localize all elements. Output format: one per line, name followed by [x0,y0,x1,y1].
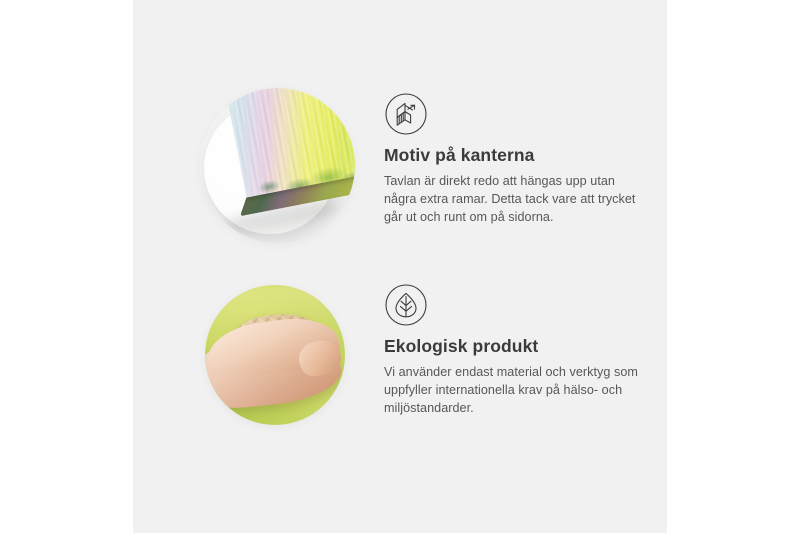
content-panel: Motiv på kanterna Tavlan är direkt redo … [133,0,667,533]
feature-title: Ekologisk produkt [384,336,656,357]
feature-block-motiv-pa-kanterna: Motiv på kanterna Tavlan är direkt redo … [133,78,667,253]
product-feature-panel: Motiv på kanterna Tavlan är direkt redo … [0,0,800,533]
canvas-corner-photo [200,88,355,243]
wood-chips-in-hands-photo [205,285,345,425]
leaf-icon [384,283,428,327]
feature-block-ekologisk-produkt: Ekologisk produkt Vi använder endast mat… [133,275,667,435]
feature-text-column: Ekologisk produkt Vi använder endast mat… [384,283,656,418]
feature-text-column: Motiv på kanterna Tavlan är direkt redo … [384,92,646,227]
canvas-block [225,88,355,235]
feature-description: Tavlan är direkt redo att hängas upp uta… [384,173,646,227]
canvas-wrapped-edge-icon [384,92,428,136]
feature-title: Motiv på kanterna [384,145,646,166]
feature-description: Vi använder endast material och verktyg … [384,364,656,418]
